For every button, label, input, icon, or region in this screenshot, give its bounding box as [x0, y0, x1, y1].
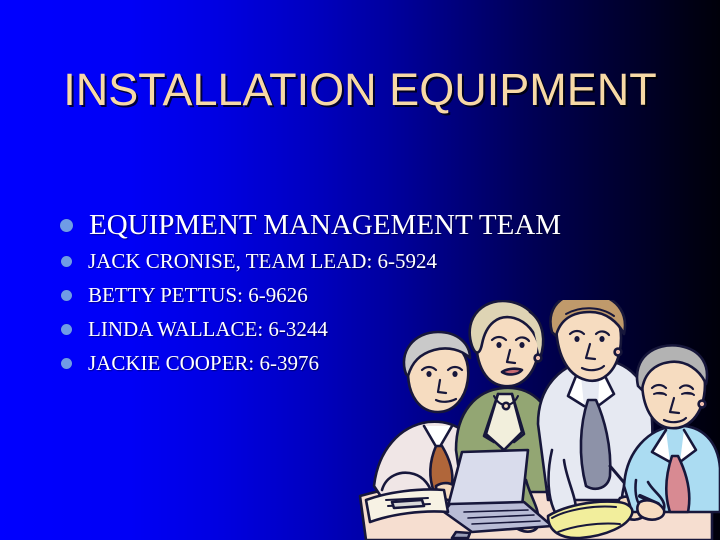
list-item-label: JACK CRONISE, TEAM LEAD: 6-5924: [88, 249, 437, 273]
list-item-label: JACKIE COOPER: 6-3976: [88, 351, 319, 375]
pen-on-paper: [392, 500, 424, 508]
list-item: JACK CRONISE, TEAM LEAD: 6-5924: [58, 244, 658, 278]
laptop-screen: [448, 450, 528, 506]
list-item-label: BETTY PETTUS: 6-9626: [88, 283, 308, 307]
bullet-dot-icon: [60, 219, 73, 232]
bullet-dot-icon: [61, 358, 72, 369]
slide-title: INSTALLATION EQUIPMENT: [0, 64, 720, 116]
meeting-clipart-image: [352, 300, 720, 540]
slide-canvas: INSTALLATION EQUIPMENT EQUIPMENT MANAGEM…: [0, 0, 720, 540]
woman-lips: [502, 369, 522, 375]
bullet-dot-icon: [61, 256, 72, 267]
list-item: EQUIPMENT MANAGEMENT TEAM: [58, 206, 658, 244]
list-item-label: EQUIPMENT MANAGEMENT TEAM: [89, 209, 561, 241]
bullet-dot-icon: [61, 290, 72, 301]
bullet-dot-icon: [61, 324, 72, 335]
list-item-label: LINDA WALLACE: 6-3244: [88, 317, 328, 341]
